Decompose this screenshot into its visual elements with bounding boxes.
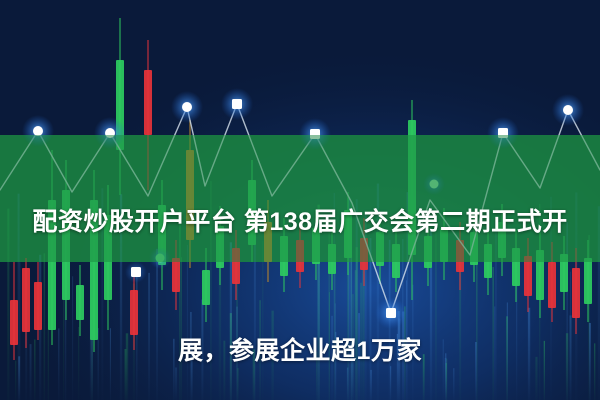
banner-image: 配资炒股开户平台 第138届广交会第二期正式开 展，参展企业超1万家 <box>0 0 600 400</box>
headline-line-1: 配资炒股开户平台 第138届广交会第二期正式开 <box>32 208 567 236</box>
page-title: 配资炒股开户平台 第138届广交会第二期正式开 展，参展企业超1万家 <box>18 158 582 373</box>
headline-line-2: 展，参展企业超1万家 <box>178 337 422 365</box>
